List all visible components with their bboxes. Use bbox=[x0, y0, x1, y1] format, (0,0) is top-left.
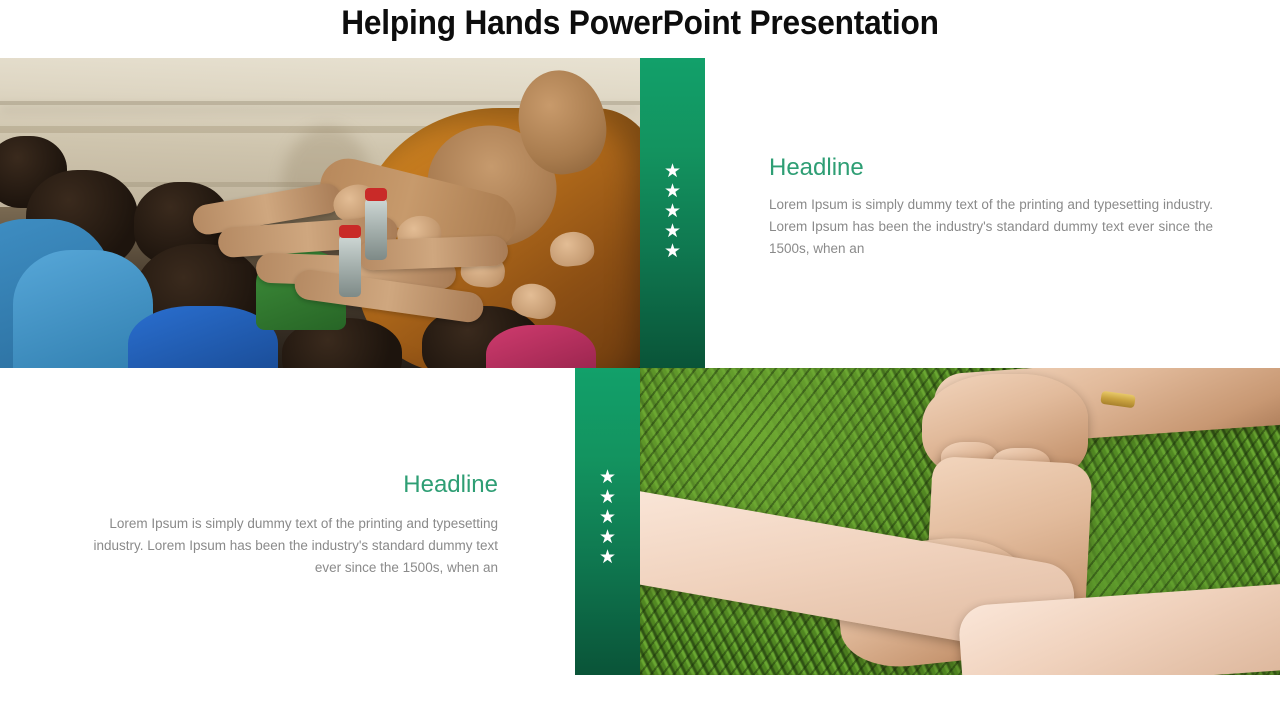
star-icon: ★ bbox=[664, 162, 681, 182]
top-headline: Headline bbox=[769, 154, 864, 182]
bottom-margin bbox=[0, 675, 1280, 720]
star-icon: ★ bbox=[599, 548, 616, 568]
bottom-headline: Headline bbox=[403, 471, 498, 499]
accent-bar-bottom: ★ ★ ★ ★ ★ bbox=[575, 368, 640, 675]
bottom-body-text: Lorem Ipsum is simply dummy text of the … bbox=[68, 513, 498, 579]
star-icon: ★ bbox=[599, 528, 616, 548]
star-rating-top: ★ ★ ★ ★ ★ bbox=[640, 162, 705, 262]
hands-gripping-wrists-photo bbox=[640, 368, 1280, 675]
star-icon: ★ bbox=[664, 182, 681, 202]
star-icon: ★ bbox=[599, 508, 616, 528]
accent-bar-top: ★ ★ ★ ★ ★ bbox=[640, 58, 705, 368]
monk-giving-to-children-photo bbox=[0, 58, 640, 368]
star-icon: ★ bbox=[599, 468, 616, 488]
top-body-text: Lorem Ipsum is simply dummy text of the … bbox=[769, 194, 1213, 260]
top-text-panel: Headline Lorem Ipsum is simply dummy tex… bbox=[705, 58, 1280, 368]
photo-water-bottle bbox=[339, 235, 361, 297]
star-icon: ★ bbox=[664, 202, 681, 222]
page-title: Helping Hands PowerPoint Presentation bbox=[45, 4, 1235, 43]
photo-bottle-cap bbox=[365, 188, 387, 201]
photo-water-bottle bbox=[365, 198, 387, 260]
star-rating-bottom: ★ ★ ★ ★ ★ bbox=[575, 468, 640, 568]
star-icon: ★ bbox=[664, 242, 681, 262]
top-content-row: ★ ★ ★ ★ ★ Headline Lorem Ipsum is simply… bbox=[0, 58, 1280, 368]
star-icon: ★ bbox=[664, 222, 681, 242]
photo-child-shirt bbox=[486, 325, 596, 368]
photo-bottle-cap bbox=[339, 225, 361, 238]
bottom-content-row: Headline Lorem Ipsum is simply dummy tex… bbox=[0, 368, 1280, 675]
star-icon: ★ bbox=[599, 488, 616, 508]
bottom-text-panel: Headline Lorem Ipsum is simply dummy tex… bbox=[0, 368, 575, 675]
